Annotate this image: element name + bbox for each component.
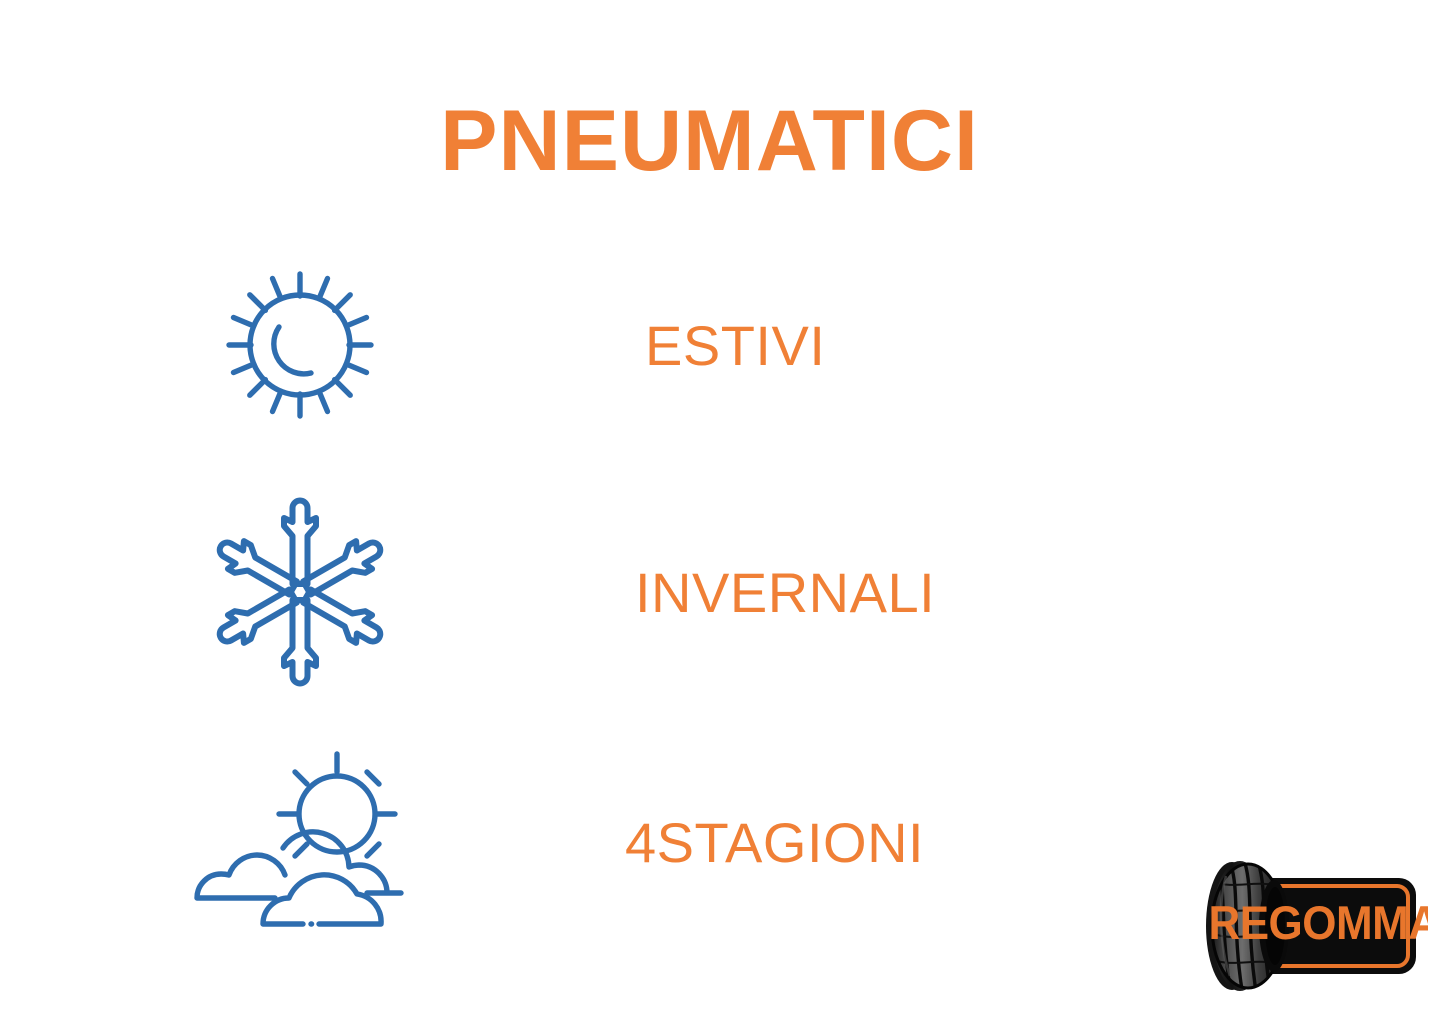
regomma-logo[interactable]: REGOMMA bbox=[1196, 856, 1428, 996]
sun-icon bbox=[150, 245, 450, 445]
page-title: PNEUMATICI bbox=[0, 96, 1432, 186]
sun-behind-clouds-icon bbox=[150, 742, 450, 942]
tyre-category-row-quattro-stagioni: 4STAGIONI bbox=[150, 742, 1150, 942]
tyre-category-label-invernali: INVERNALI bbox=[635, 560, 935, 625]
snowflake-icon bbox=[150, 492, 450, 692]
logo-text: REGOMMA bbox=[1208, 897, 1428, 950]
tyre-category-label-estivi: ESTIVI bbox=[645, 313, 825, 378]
tyre-category-label-quattro-stagioni: 4STAGIONI bbox=[625, 810, 924, 875]
tyre-category-row-estivi: ESTIVI bbox=[150, 245, 1150, 445]
poster-canvas: PNEUMATICI bbox=[0, 0, 1445, 1022]
tyre-category-row-invernali: INVERNALI bbox=[150, 492, 1150, 692]
